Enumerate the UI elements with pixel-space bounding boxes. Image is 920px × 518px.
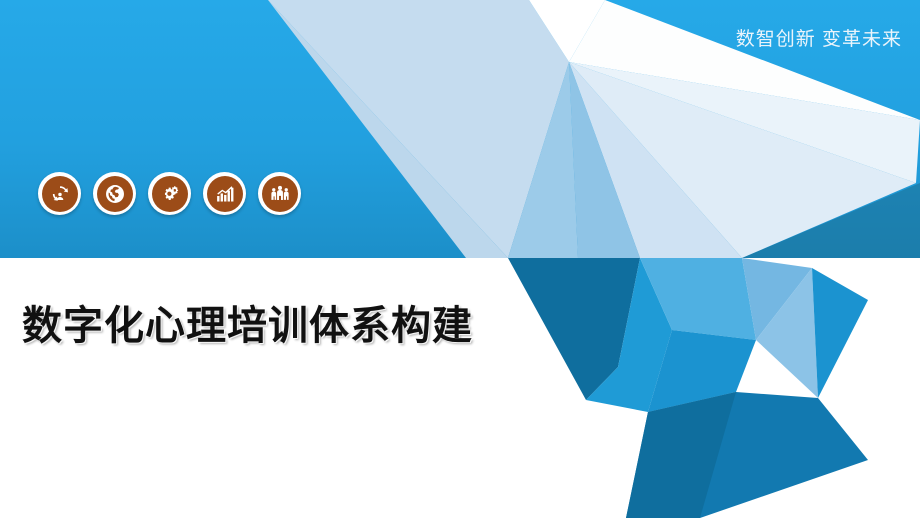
recycle-person-icon	[49, 183, 71, 205]
poly-lower-mid-centre	[640, 258, 756, 340]
poly-lower-mid-centre-b	[648, 330, 756, 412]
globe-icon	[104, 183, 126, 205]
gears-icon	[159, 183, 181, 205]
poly-bottom-tail-edge	[626, 392, 736, 518]
icon-badge-bar-chart[interactable]	[203, 172, 246, 215]
poly-lower-deep-right	[812, 268, 868, 398]
page-title: 数字化心理培训体系构建	[22, 293, 473, 351]
poly-bottom-tail	[626, 392, 868, 518]
icon-badge-recycle-person[interactable]	[38, 172, 81, 215]
icon-disc	[207, 176, 243, 212]
poly-lower-accent-left	[586, 258, 672, 412]
poly-lower-deep-left	[508, 258, 640, 400]
header-tagline: 数智创新 变革未来	[736, 24, 902, 51]
icon-badge-people-group[interactable]	[258, 172, 301, 215]
icon-row	[38, 172, 301, 215]
icon-badge-globe[interactable]	[93, 172, 136, 215]
icon-disc	[262, 176, 298, 212]
poly-lower-light-right-b	[756, 268, 818, 398]
icon-badge-gears[interactable]	[148, 172, 191, 215]
bar-chart-icon	[214, 183, 236, 205]
icon-disc	[42, 176, 78, 212]
title-slide: 数智创新 变革未来	[0, 0, 920, 518]
poly-lower-light-right	[742, 258, 812, 340]
icon-disc	[97, 176, 133, 212]
people-group-icon	[269, 183, 291, 205]
icon-disc	[152, 176, 188, 212]
